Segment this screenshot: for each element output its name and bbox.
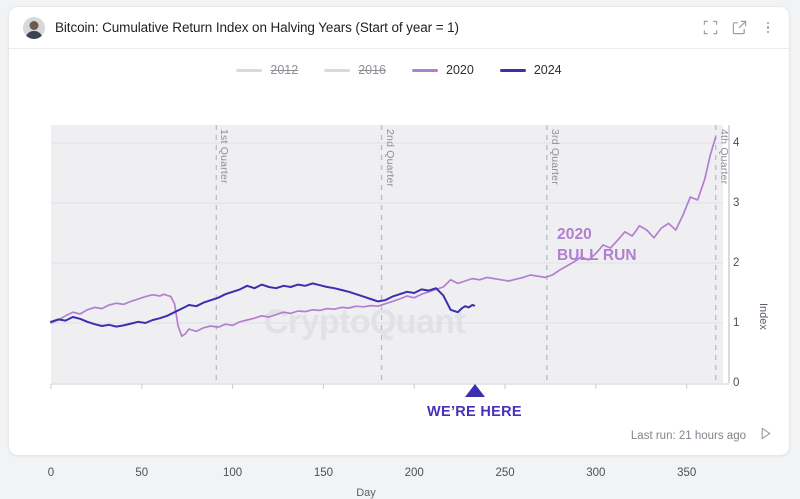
bull-run-annotation: 2020 BULL RUN	[557, 225, 637, 267]
legend-item-2020[interactable]: 2020	[412, 63, 474, 77]
x-tick-150: 150	[314, 467, 333, 479]
y-tick-1: 1	[733, 317, 739, 329]
y-tick-4: 4	[733, 137, 739, 149]
legend-label-2020: 2020	[446, 63, 474, 77]
y-tick-2: 2	[733, 257, 739, 269]
chart-svg	[9, 85, 791, 415]
quarter-label-1: 1st Quarter	[218, 129, 230, 184]
avatar-body	[26, 31, 43, 39]
chart-card: Bitcoin: Cumulative Return Index on Halv…	[8, 6, 790, 456]
quarter-lines	[216, 125, 715, 383]
chart-area: CryptoQuant 1st Quarter 2nd Quarter 3rd …	[9, 85, 791, 415]
y-tick-3: 3	[733, 197, 739, 209]
series-line-2024	[51, 283, 474, 326]
avatar-face	[30, 21, 39, 30]
avatar	[23, 17, 45, 39]
legend-item-2024[interactable]: 2024	[500, 63, 562, 77]
card-footer: Last run: 21 hours ago	[9, 417, 789, 455]
were-here-triangle-icon	[465, 384, 485, 397]
external-link-icon[interactable]	[732, 20, 747, 35]
y-axis-label: Index	[757, 303, 769, 330]
legend-label-2024: 2024	[534, 63, 562, 77]
quarter-label-2: 2nd Quarter	[384, 129, 396, 187]
x-tick-200: 200	[405, 467, 424, 479]
bull-run-year: 2020	[557, 225, 637, 246]
legend-label-2012: 2012	[270, 63, 298, 77]
legend-swatch-2020	[412, 69, 438, 72]
chart-legend: 2012 2016 2020 2024	[9, 55, 789, 85]
page-title: Bitcoin: Cumulative Return Index on Halv…	[55, 20, 459, 35]
x-tick-250: 250	[495, 467, 514, 479]
legend-item-2012[interactable]: 2012	[236, 63, 298, 77]
x-tick-350: 350	[677, 467, 696, 479]
play-icon[interactable]	[758, 426, 773, 446]
x-axis-label: Day	[9, 487, 723, 499]
bull-run-text: BULL RUN	[557, 246, 637, 267]
header-actions	[703, 20, 775, 35]
x-tick-100: 100	[223, 467, 242, 479]
x-tick-300: 300	[586, 467, 605, 479]
quarter-label-3: 3rd Quarter	[549, 129, 561, 185]
legend-swatch-2016	[324, 69, 350, 72]
quarter-label-4: 4th Quarter	[718, 129, 730, 184]
y-tick-0: 0	[733, 377, 739, 389]
more-options-icon[interactable]	[761, 22, 775, 34]
fullscreen-icon[interactable]	[703, 20, 718, 35]
legend-swatch-2024	[500, 69, 526, 72]
legend-label-2016: 2016	[358, 63, 386, 77]
x-tick-0: 0	[48, 467, 54, 479]
card-header: Bitcoin: Cumulative Return Index on Halv…	[9, 7, 789, 49]
last-run-text: Last run: 21 hours ago	[631, 430, 746, 442]
legend-item-2016[interactable]: 2016	[324, 63, 386, 77]
x-tick-marks	[51, 384, 687, 389]
x-tick-50: 50	[135, 467, 148, 479]
legend-swatch-2012	[236, 69, 262, 72]
